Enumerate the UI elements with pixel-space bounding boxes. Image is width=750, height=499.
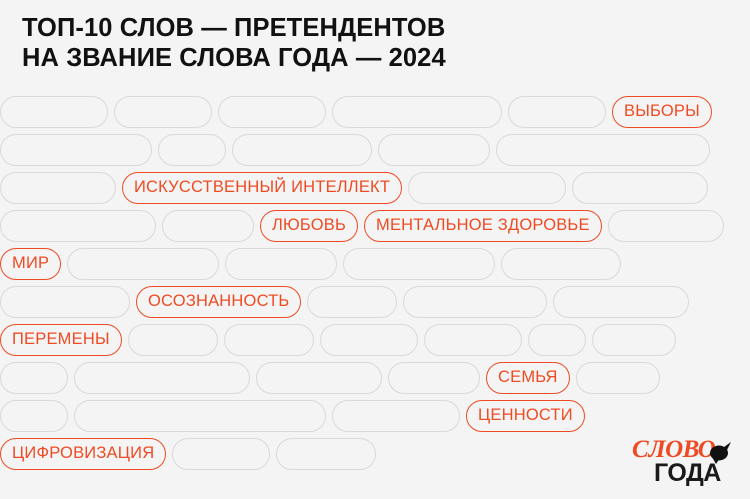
placeholder-pill	[332, 96, 502, 128]
word-row: ЛЮБОВЬМЕНТАЛЬНОЕ ЗДОРОВЬЕ	[0, 210, 750, 248]
placeholder-pill	[162, 210, 254, 242]
placeholder-pill	[424, 324, 522, 356]
word-row	[0, 134, 750, 172]
page-title: ТОП-10 СЛОВ — ПРЕТЕНДЕНТОВ НА ЗВАНИЕ СЛО…	[22, 13, 722, 73]
placeholder-pill	[0, 400, 68, 432]
svg-text:ГОДА: ГОДА	[654, 459, 721, 487]
placeholder-pill	[232, 134, 372, 166]
placeholder-pill	[276, 438, 376, 470]
title-line-2: НА ЗВАНИЕ СЛОВА ГОДА — 2024	[22, 43, 722, 73]
placeholder-pill	[378, 134, 490, 166]
word-row: МИР	[0, 248, 750, 286]
placeholder-pill	[218, 96, 326, 128]
placeholder-pill	[496, 134, 710, 166]
placeholder-pill	[320, 324, 418, 356]
word-pill-label: ОСОЗНАННОСТЬ	[148, 287, 289, 316]
placeholder-pill	[388, 362, 480, 394]
placeholder-pill	[114, 96, 212, 128]
placeholder-pill	[0, 210, 156, 242]
placeholder-pill	[572, 172, 708, 204]
word-pill[interactable]: ПЕРЕМЕНЫ	[0, 324, 122, 356]
word-pill[interactable]: ИСКУССТВЕННЫЙ ИНТЕЛЛЕКТ	[122, 172, 402, 204]
placeholder-pill	[343, 248, 495, 280]
word-pill[interactable]: ВЫБОРЫ	[612, 96, 712, 128]
placeholder-pill	[501, 248, 621, 280]
word-row: СЕМЬЯ	[0, 362, 750, 400]
word-pill-label: ИСКУССТВЕННЫЙ ИНТЕЛЛЕКТ	[134, 173, 390, 202]
placeholder-pill	[0, 172, 116, 204]
placeholder-pill	[592, 324, 676, 356]
word-pill[interactable]: ОСОЗНАННОСТЬ	[136, 286, 301, 318]
placeholder-pill	[0, 362, 68, 394]
slovo-goda-logo: СЛОВО ГОДА	[632, 431, 736, 487]
word-pill[interactable]: ЦЕННОСТИ	[466, 400, 585, 432]
word-pill-label: СЕМЬЯ	[498, 363, 558, 392]
placeholder-pill	[608, 210, 724, 242]
placeholder-pill	[403, 286, 547, 318]
placeholder-pill	[224, 324, 314, 356]
word-pill-label: ПЕРЕМЕНЫ	[12, 325, 110, 354]
placeholder-pill	[528, 324, 586, 356]
word-pill-label: ЦЕННОСТИ	[478, 401, 573, 430]
placeholder-pill	[67, 248, 219, 280]
placeholder-pill	[307, 286, 397, 318]
word-pill[interactable]: ЛЮБОВЬ	[260, 210, 358, 242]
word-row: ОСОЗНАННОСТЬ	[0, 286, 750, 324]
word-pill-label: ЛЮБОВЬ	[272, 211, 346, 240]
word-pill-label: ЦИФРОВИЗАЦИЯ	[12, 439, 154, 468]
placeholder-pill	[0, 96, 108, 128]
infographic-canvas: ТОП-10 СЛОВ — ПРЕТЕНДЕНТОВ НА ЗВАНИЕ СЛО…	[0, 0, 750, 499]
word-pill[interactable]: ЦИФРОВИЗАЦИЯ	[0, 438, 166, 470]
word-pill-label: МИР	[12, 249, 49, 278]
placeholder-pill	[172, 438, 270, 470]
placeholder-pill	[553, 286, 689, 318]
title-line-1: ТОП-10 СЛОВ — ПРЕТЕНДЕНТОВ	[22, 13, 722, 43]
word-row: ИСКУССТВЕННЫЙ ИНТЕЛЛЕКТ	[0, 172, 750, 210]
placeholder-pill	[225, 248, 337, 280]
placeholder-pill	[0, 286, 130, 318]
placeholder-pill	[576, 362, 660, 394]
placeholder-pill	[74, 400, 326, 432]
word-pill[interactable]: МИР	[0, 248, 61, 280]
placeholder-pill	[158, 134, 226, 166]
word-pill-label: ВЫБОРЫ	[624, 97, 700, 126]
placeholder-pill	[256, 362, 382, 394]
placeholder-pill	[332, 400, 460, 432]
word-pill[interactable]: МЕНТАЛЬНОЕ ЗДОРОВЬЕ	[364, 210, 602, 242]
word-row: ВЫБОРЫ	[0, 96, 750, 134]
placeholder-pill	[74, 362, 250, 394]
word-pill-label: МЕНТАЛЬНОЕ ЗДОРОВЬЕ	[376, 211, 590, 240]
word-pill[interactable]: СЕМЬЯ	[486, 362, 570, 394]
word-row: ПЕРЕМЕНЫ	[0, 324, 750, 362]
placeholder-pill	[128, 324, 218, 356]
placeholder-pill	[0, 134, 152, 166]
placeholder-pill	[408, 172, 566, 204]
word-rows: ВЫБОРЫИСКУССТВЕННЫЙ ИНТЕЛЛЕКТЛЮБОВЬМЕНТА…	[0, 96, 750, 476]
placeholder-pill	[508, 96, 606, 128]
